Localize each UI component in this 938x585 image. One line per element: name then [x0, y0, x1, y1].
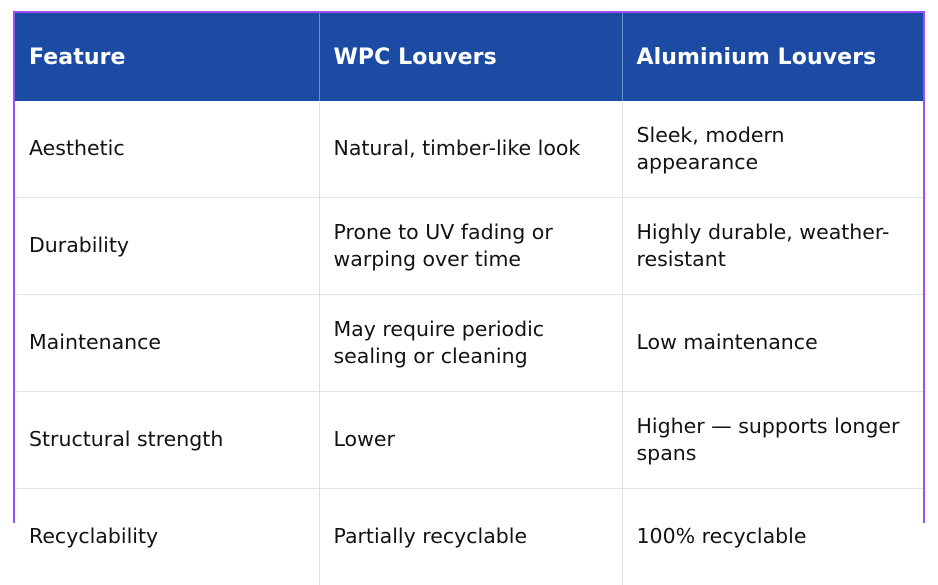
table-row: Aesthetic Natural, timber-like look Slee… [15, 101, 923, 198]
cell-feature: Structural strength [15, 392, 319, 489]
cell-text: Durability [29, 232, 305, 259]
table-header-row: Feature WPC Louvers Aluminium Louvers [15, 13, 923, 101]
cell-text: Partially recyclable [334, 523, 608, 550]
table-row: Durability Prone to UV fading or warping… [15, 198, 923, 295]
cell-text: Structural strength [29, 426, 305, 453]
column-header-wpc-louvers: WPC Louvers [319, 13, 622, 101]
cell-feature: Aesthetic [15, 101, 319, 198]
cell-aluminium: Highly durable, weather-resistant [622, 198, 923, 295]
cell-aluminium: Sleek, modern appearance [622, 101, 923, 198]
cell-feature: Recyclability [15, 489, 319, 585]
cell-text: Prone to UV fading or warping over time [334, 219, 608, 273]
comparison-table: Feature WPC Louvers Aluminium Louvers Ae… [15, 13, 923, 585]
cell-aluminium: Higher — supports longer spans [622, 392, 923, 489]
cell-text: Highly durable, weather-resistant [637, 219, 910, 273]
cell-text: Higher — supports longer spans [637, 413, 910, 467]
cell-text: May require periodic sealing or cleaning [334, 316, 608, 370]
table-header: Feature WPC Louvers Aluminium Louvers [15, 13, 923, 101]
cell-wpc: Natural, timber-like look [319, 101, 622, 198]
cell-text: 100% recyclable [637, 523, 910, 550]
table-row: Maintenance May require periodic sealing… [15, 295, 923, 392]
cell-wpc: Lower [319, 392, 622, 489]
cell-aluminium: Low maintenance [622, 295, 923, 392]
cell-wpc: Prone to UV fading or warping over time [319, 198, 622, 295]
column-header-aluminium-louvers: Aluminium Louvers [622, 13, 923, 101]
table-body: Aesthetic Natural, timber-like look Slee… [15, 101, 923, 585]
cell-feature: Maintenance [15, 295, 319, 392]
table-row: Recyclability Partially recyclable 100% … [15, 489, 923, 585]
cell-feature: Durability [15, 198, 319, 295]
cell-text: Lower [334, 426, 608, 453]
table-row: Structural strength Lower Higher — suppo… [15, 392, 923, 489]
cell-aluminium: 100% recyclable [622, 489, 923, 585]
cell-text: Natural, timber-like look [334, 135, 608, 162]
column-header-feature: Feature [15, 13, 319, 101]
cell-text: Aesthetic [29, 135, 305, 162]
comparison-table-container: Feature WPC Louvers Aluminium Louvers Ae… [13, 11, 925, 523]
cell-text: Sleek, modern appearance [637, 122, 910, 176]
cell-wpc: May require periodic sealing or cleaning [319, 295, 622, 392]
cell-wpc: Partially recyclable [319, 489, 622, 585]
page-root: Feature WPC Louvers Aluminium Louvers Ae… [0, 0, 938, 538]
cell-text: Recyclability [29, 523, 305, 550]
cell-text: Maintenance [29, 329, 305, 356]
cell-text: Low maintenance [637, 329, 910, 356]
